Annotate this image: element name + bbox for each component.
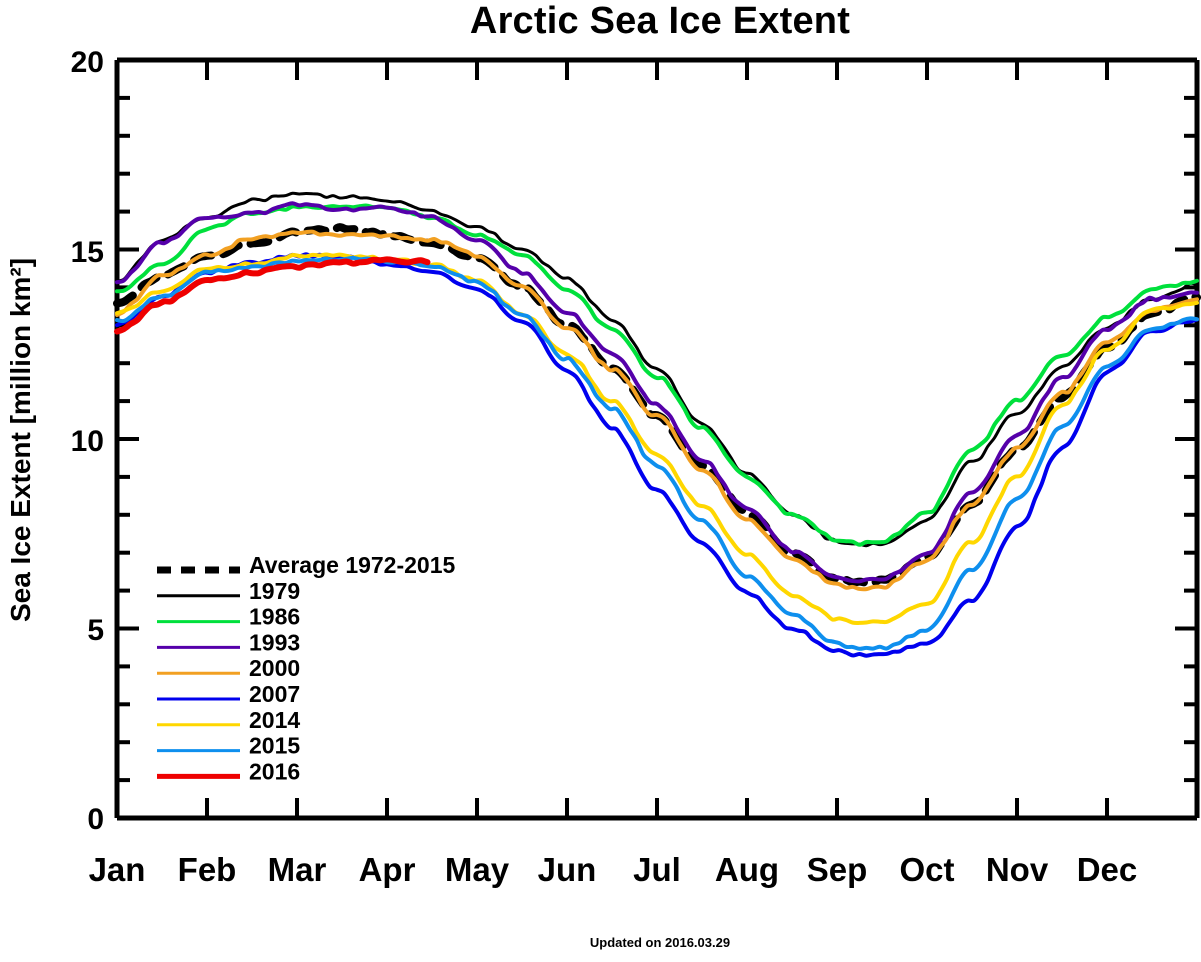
month-label-dec: Dec	[1077, 851, 1138, 888]
month-label-jul: Jul	[633, 851, 681, 888]
page-title: Arctic Sea Ice Extent	[470, 0, 850, 42]
chart-legend: Average 1972-201519791986199320002007201…	[157, 552, 456, 784]
legend-label-2015: 2015	[249, 733, 300, 759]
month-label-jun: Jun	[538, 851, 597, 888]
y-tick-label-20: 20	[71, 46, 104, 79]
month-label-mar: Mar	[268, 851, 327, 888]
month-label-oct: Oct	[899, 851, 954, 888]
month-label-sep: Sep	[807, 851, 868, 888]
month-label-nov: Nov	[986, 851, 1049, 888]
y-axis-label: Sea Ice Extent [million km²]	[5, 258, 36, 622]
y-tick-label-5: 5	[87, 614, 104, 647]
y-tick-label-15: 15	[71, 236, 104, 269]
legend-label-1979: 1979	[249, 578, 300, 604]
month-label-may: May	[445, 851, 510, 888]
legend-label-2014: 2014	[249, 707, 300, 733]
arctic-sea-ice-chart: Arctic Sea Ice Extent Sea Ice Extent [mi…	[0, 0, 1201, 962]
month-label-jan: Jan	[89, 851, 146, 888]
y-tick-labels: 20 15 10 5 0	[71, 46, 104, 836]
y-tick-label-10: 10	[71, 425, 104, 458]
legend-label-1986: 1986	[249, 604, 300, 630]
series-line-1979	[117, 193, 1197, 546]
month-label-feb: Feb	[178, 851, 237, 888]
month-label-aug: Aug	[715, 851, 779, 888]
legend-label-2016: 2016	[249, 758, 300, 784]
footer-updated-text: Updated on 2016.03.29	[590, 935, 730, 950]
legend-label-2007: 2007	[249, 681, 300, 707]
legend-label-average-1972-2015: Average 1972-2015	[249, 552, 456, 578]
y-tick-label-0: 0	[87, 803, 104, 836]
month-label-apr: Apr	[359, 851, 416, 888]
legend-label-2000: 2000	[249, 655, 300, 681]
x-month-labels: Jan Feb Mar Apr May Jun Jul Aug Sep Oct …	[89, 851, 1138, 888]
legend-label-1993: 1993	[249, 629, 300, 655]
chart-container: Arctic Sea Ice Extent Sea Ice Extent [mi…	[0, 0, 1201, 962]
